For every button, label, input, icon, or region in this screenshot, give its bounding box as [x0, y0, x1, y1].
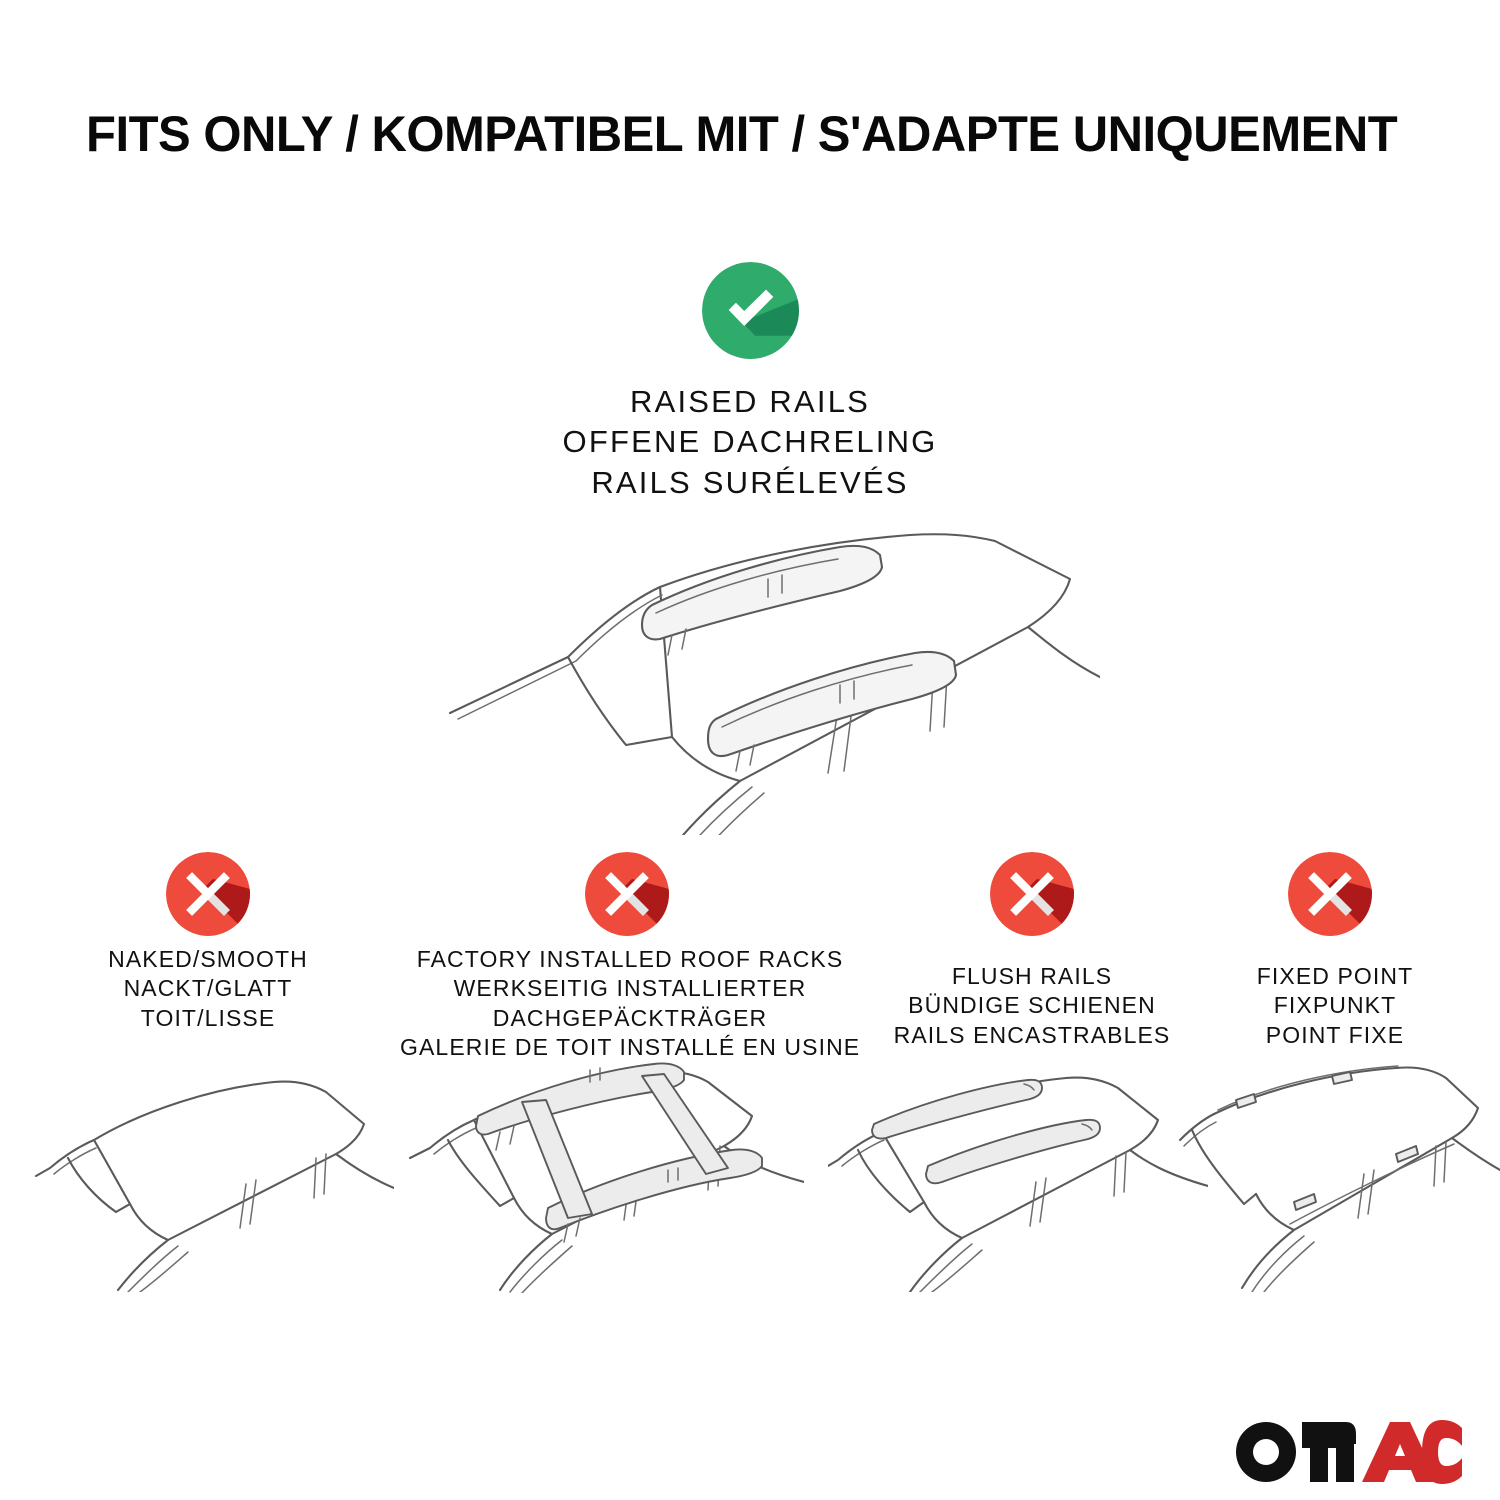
fixed-point-caption: FIXED POINT FIXPUNKT POINT FIXE: [1210, 962, 1460, 1050]
car-roof-flush-rails-illustration: [828, 1062, 1208, 1292]
caption-line: FIXED POINT: [1210, 962, 1460, 991]
caption-line: FIXPUNKT: [1210, 991, 1460, 1020]
caption-line: DACHGEPÄCKTRÄGER: [400, 1004, 860, 1033]
car-roof-naked-smooth-illustration: [34, 1062, 394, 1292]
caption-line: OFFENE DACHRELING: [450, 422, 1050, 462]
caption-line: FACTORY INSTALLED ROOF RACKS: [400, 945, 860, 974]
caption-line: RAILS ENCASTRABLES: [862, 1021, 1202, 1050]
factory-roof-racks-caption: FACTORY INSTALLED ROOF RACKS WERKSEITIG …: [400, 945, 860, 1063]
red-x-icon: [1288, 852, 1372, 936]
car-roof-raised-rails-illustration: [410, 505, 1100, 835]
page-title: FITS ONLY / KOMPATIBEL MIT / S'ADAPTE UN…: [86, 108, 1399, 161]
raised-rails-caption: RAISED RAILS OFFENE DACHRELING RAILS SUR…: [450, 382, 1050, 503]
car-roof-fixed-point-illustration: [1178, 1062, 1500, 1292]
caption-line: WERKSEITIG INSTALLIERTER: [400, 974, 860, 1003]
caption-line: POINT FIXE: [1210, 1021, 1460, 1050]
omac-logo: [1232, 1408, 1462, 1484]
green-check-icon: [702, 262, 799, 359]
car-roof-factory-racks-illustration: [404, 1058, 804, 1293]
naked-smooth-caption: NAKED/SMOOTH NACKT/GLATT TOIT/LISSE: [38, 945, 378, 1033]
caption-line: NAKED/SMOOTH: [38, 945, 378, 974]
red-x-icon: [990, 852, 1074, 936]
red-x-icon: [166, 852, 250, 936]
caption-line: FLUSH RAILS: [862, 962, 1202, 991]
caption-line: BÜNDIGE SCHIENEN: [862, 991, 1202, 1020]
red-x-icon: [585, 852, 669, 936]
infographic-canvas: FITS ONLY / KOMPATIBEL MIT / S'ADAPTE UN…: [0, 0, 1500, 1500]
flush-rails-caption: FLUSH RAILS BÜNDIGE SCHIENEN RAILS ENCAS…: [862, 962, 1202, 1050]
caption-line: RAILS SURÉLEVÉS: [450, 463, 1050, 503]
caption-line: TOIT/LISSE: [38, 1004, 378, 1033]
caption-line: RAISED RAILS: [450, 382, 1050, 422]
caption-line: NACKT/GLATT: [38, 974, 378, 1003]
